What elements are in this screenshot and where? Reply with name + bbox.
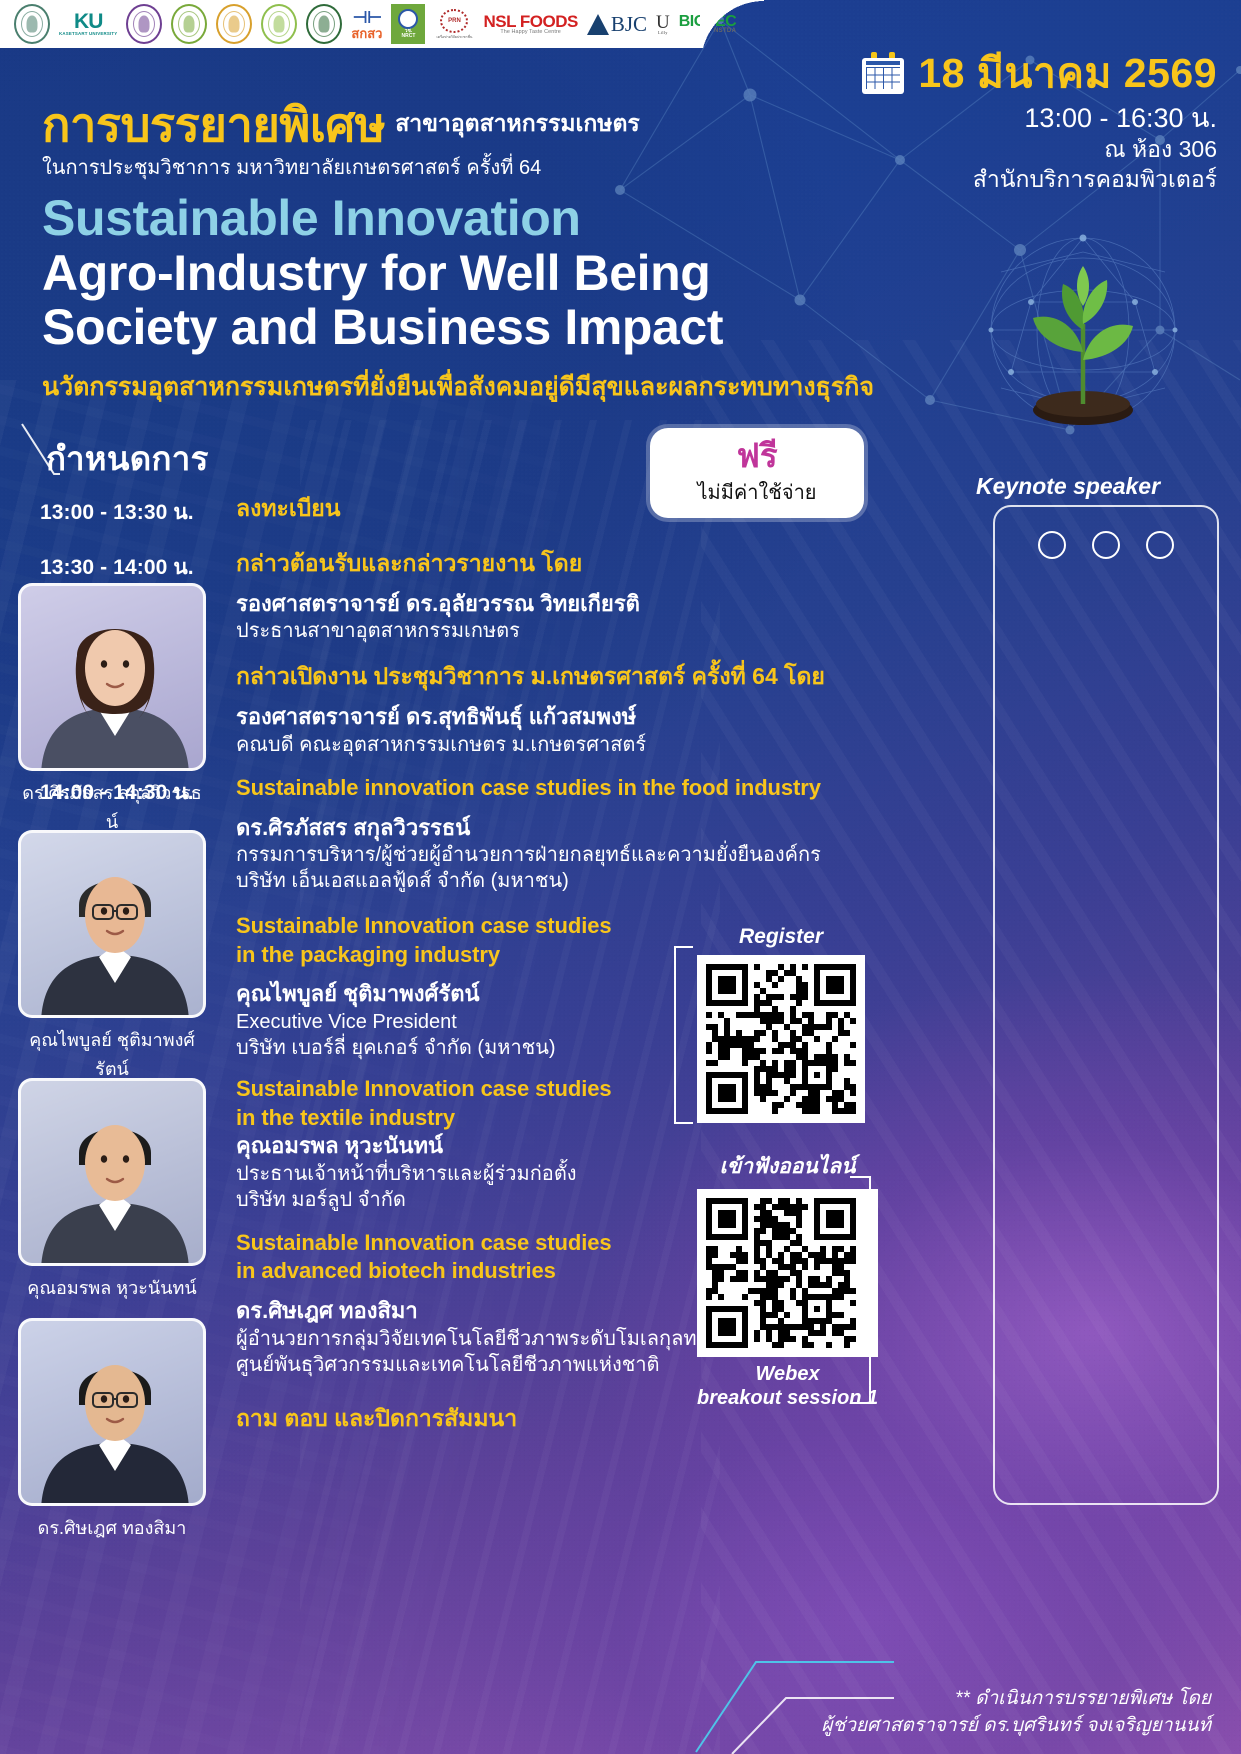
free-badge-subtext: ไม่มีค่าใช้จ่าย — [697, 476, 816, 508]
online-qr-code[interactable] — [697, 1189, 878, 1357]
keynote-speaker: คุณอมรพล หุวะนันทน์ — [18, 1078, 206, 1302]
keynote-dots-decoration — [995, 531, 1217, 559]
seedling-globe-graphic — [971, 232, 1196, 442]
headline-thai-main: การบรรยายพิเศษ — [42, 100, 385, 149]
university-seal-darkgreen-logo — [306, 4, 342, 44]
headline-conference: ในการประชุมวิชาการ มหาวิทยาลัยเกษตรศาสตร… — [42, 151, 874, 183]
headline-thai-tagline: นวัตกรรมอุตสาหกรรมเกษตรที่ยั่งยืนเพื่อสั… — [42, 367, 874, 407]
bjc-logo: BJC — [587, 12, 647, 37]
poster-root: KUKASETSART UNIVERSITY ⊣⊢สกสว วช. NRCT P… — [0, 0, 1241, 1754]
prn-logo-subtext: เครือข่ายวิจัยประชาชื่น — [436, 34, 472, 40]
agenda-line-name: ดร.ศิรภัสสร สกุลวิวรรธน์ — [236, 814, 940, 843]
keynote-speaker-name: ดร.ศิษเฎศ ทองสิมา — [18, 1513, 206, 1542]
headline-thai-department: สาขาอุตสาหกรรมเกษตร — [395, 106, 640, 149]
agenda-header: กำหนดการ — [46, 432, 209, 485]
keynote-speaker: ดร.ศิรภัสสร สกุลวิวรรธน์ — [18, 583, 206, 836]
footer-note-line2: ผู้ช่วยศาสตราจารย์ ดร.บุศรินทร์ จงเจริญย… — [821, 1712, 1211, 1740]
ku-logo-subtext: KASETSART UNIVERSITY — [59, 32, 117, 36]
spacer — [236, 644, 940, 662]
nsti-logo: วช. NRCT — [391, 4, 425, 44]
register-qr-caption: Register — [697, 925, 865, 949]
university-seal-gold-logo — [216, 4, 252, 44]
nsl-foods-logo: NSL FOODSThe Happy Taste Centre — [483, 13, 577, 35]
footer-note-line1: ** ดำเนินการบรรยายพิเศษ โดย — [821, 1685, 1211, 1713]
spacer — [236, 692, 940, 703]
female-speaker-portrait — [18, 583, 206, 771]
keynote-speaker-name: ดร.ศิรภัสสร สกุลวิวรรธน์ — [18, 778, 206, 836]
tree-icon — [587, 14, 609, 35]
event-datetime-block: 18 มีนาคม 2569 13:00 - 16:30 น. ณ ห้อง 3… — [862, 52, 1217, 195]
agenda-slot-time: 13:00 - 13:30 น. — [40, 494, 236, 529]
free-badge: ฟรี ไม่มีค่าใช้จ่าย — [650, 428, 864, 518]
keynote-speaker-title: Keynote speaker — [943, 473, 1193, 500]
sakwo-logo-text: สกสว — [351, 26, 382, 41]
event-date: 18 มีนาคม 2569 — [918, 53, 1217, 94]
agenda-line-title-th: กล่าวต้อนรับและกล่าวรายงาน โดย — [236, 549, 940, 579]
footer-note: ** ดำเนินการบรรยายพิเศษ โดย ผู้ช่วยศาสตร… — [821, 1685, 1211, 1740]
nsti-logo-subtext: NRCT — [402, 34, 416, 40]
male-speaker-portrait-1 — [18, 830, 206, 1018]
sakwo-logo: ⊣⊢สกสว — [351, 9, 382, 40]
university-seal-green-logo — [171, 4, 207, 44]
headline-en-line3: Society and Business Impact — [42, 300, 874, 355]
lilly-logo: ULilly — [656, 14, 670, 35]
bjc-logo-text: BJC — [611, 12, 647, 37]
keynote-speaker: คุณไพบูลย์ ชุติมาพงศ์รัตน์ — [18, 830, 206, 1083]
ku-logo: KUKASETSART UNIVERSITY — [59, 12, 117, 36]
keynote-speaker: ดร.ศิษเฎศ ทองสิมา — [18, 1318, 206, 1542]
headline-en-line2: Agro-Industry for Well Being — [42, 246, 874, 301]
register-qr-code[interactable] — [697, 955, 865, 1123]
agenda-line-title-th: กล่าวเปิดงาน ประชุมวิชาการ ม.เกษตรศาสตร์… — [236, 662, 940, 692]
agenda-slot-body: กล่าวต้อนรับและกล่าวรายงาน โดยรองศาสตราจ… — [236, 549, 940, 758]
agenda-line-role: ประธานสาขาอุตสาหกรรมเกษตร — [236, 618, 940, 644]
male-speaker-portrait-3 — [18, 1318, 206, 1506]
headline-en-line1: Sustainable Innovation — [42, 191, 874, 246]
keynote-speaker-name: คุณไพบูลย์ ชุติมาพงศ์รัตน์ — [18, 1025, 206, 1083]
biotec-logo: BIOTECNSTDA — [679, 14, 736, 35]
agenda-line-name: รองศาสตราจารย์ ดร.สุทธิพันธุ์ แก้วสมพงษ์ — [236, 703, 940, 732]
biotec-logo-subtext: NSTDA — [679, 29, 736, 35]
male-speaker-portrait-2 — [18, 1078, 206, 1266]
sponsor-logo-bar: KUKASETSART UNIVERSITY ⊣⊢สกสว วช. NRCT P… — [0, 0, 700, 48]
webex-label: Webex — [697, 1363, 878, 1387]
lilly-logo-text: Lilly — [656, 31, 670, 35]
agenda-line-role: บริษัท เอ็นเอสแอลฟู้ดส์ จำกัด (มหาชน) — [236, 868, 940, 894]
prn-logo: PRN เครือข่ายวิจัยประชาชื่น — [434, 4, 474, 44]
ministry-seal-logo — [14, 4, 50, 44]
ku-logo-text: KU — [74, 10, 102, 33]
keynote-speaker-name: คุณอมรพล หุวะนันทน์ — [18, 1273, 206, 1302]
university-seal-thai-logo — [261, 4, 297, 44]
corner-bracket-decoration — [20, 422, 60, 504]
event-room: ณ ห้อง 306 — [862, 135, 1217, 165]
biotec-logo-text: BIOTEC — [679, 13, 736, 30]
calendar-icon — [862, 52, 904, 94]
university-seal-purple-logo — [126, 4, 162, 44]
agenda-slot-body: Sustainable innovation case studies in t… — [236, 774, 940, 894]
prn-logo-text: PRN — [440, 9, 468, 33]
event-time: 13:00 - 16:30 น. — [862, 103, 1217, 135]
agenda-label: กำหนดการ — [46, 432, 209, 485]
agenda-line-title-en: Sustainable innovation case studies in t… — [236, 774, 940, 803]
agenda-line-name: รองศาสตราจารย์ ดร.อุลัยวรรณ วิทยเกียรติ — [236, 590, 940, 619]
headline-block: การบรรยายพิเศษ สาขาอุตสาหกรรมเกษตร ในการ… — [42, 100, 874, 407]
keynote-panel — [993, 505, 1219, 1505]
online-qr-block[interactable]: เข้าฟังออนไลน์ Webex breakout session 1 — [697, 1150, 878, 1410]
webex-session-label: breakout session 1 — [697, 1387, 878, 1411]
agenda-line-role: คณบดี คณะอุตสาหกรรมเกษตร ม.เกษตรศาสตร์ — [236, 732, 940, 758]
spacer — [236, 579, 940, 590]
online-qr-caption: เข้าฟังออนไลน์ — [697, 1150, 878, 1183]
free-badge-headline: ฟรี — [736, 439, 777, 472]
register-qr-block[interactable]: Register — [697, 925, 865, 1123]
nsl-logo-text: NSL FOODS — [483, 12, 577, 31]
event-building: สำนักบริการคอมพิวเตอร์ — [862, 165, 1217, 195]
spacer — [236, 803, 940, 814]
agenda-line-role: กรรมการบริหาร/ผู้ช่วยผู้อำนวยการฝ่ายกลยุ… — [236, 842, 940, 868]
